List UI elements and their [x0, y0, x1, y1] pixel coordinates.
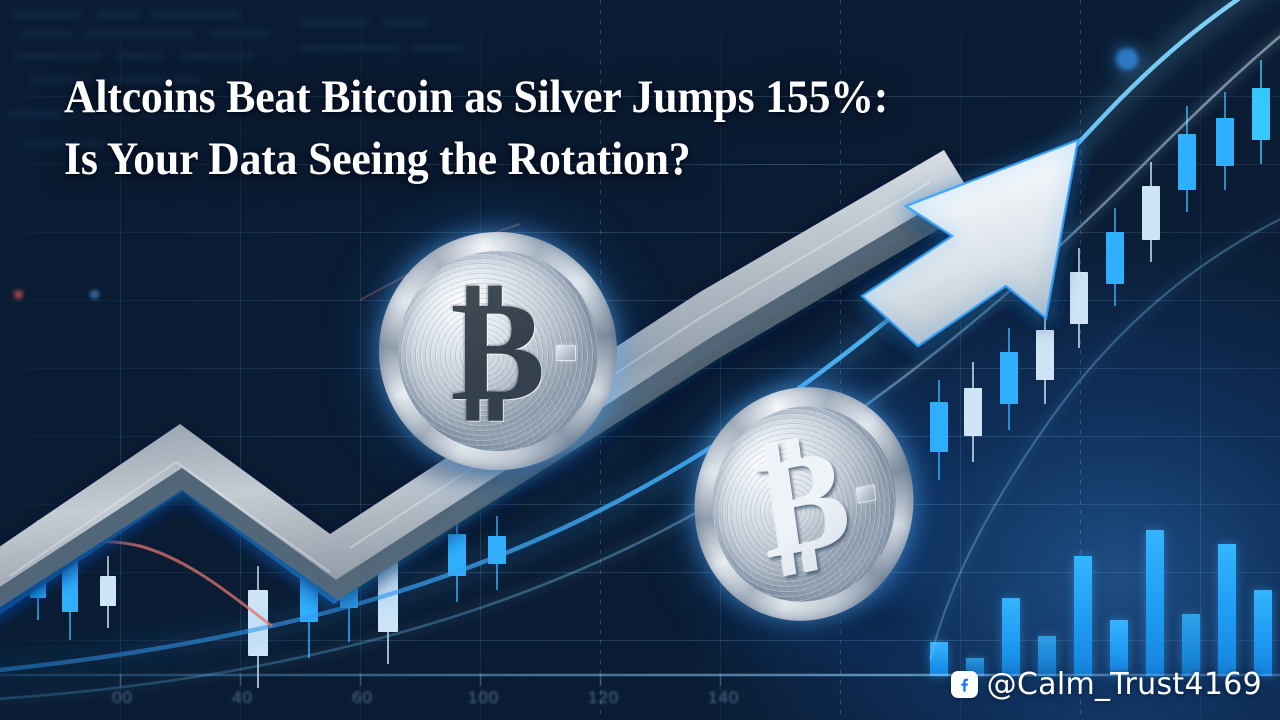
social-media-promo-image: ₿ ₿ 00 40 60 100 120 140: [0, 0, 1280, 720]
headline-line-1: Altcoins Beat Bitcoin as Silver Jumps 15…: [64, 66, 957, 128]
headline: Altcoins Beat Bitcoin as Silver Jumps 15…: [64, 66, 957, 190]
headline-line-2: Is Your Data Seeing the Rotation?: [64, 128, 957, 190]
social-handle-watermark[interactable]: @Calm_Trust4169: [951, 667, 1262, 702]
facebook-icon[interactable]: [951, 671, 978, 698]
handle-text: @Calm_Trust4169: [987, 667, 1262, 702]
